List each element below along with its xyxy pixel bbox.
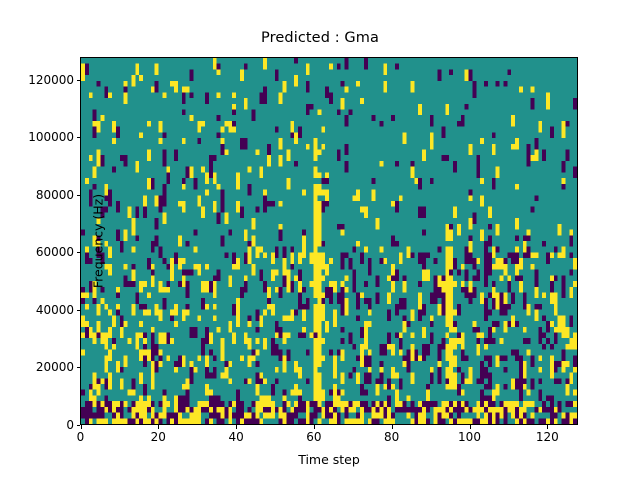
heatmap-image (81, 58, 577, 424)
xtick-mark-120 (547, 425, 548, 429)
ytick-mark-120000 (77, 80, 81, 81)
ytick-label-100000: 100000 (28, 130, 74, 144)
matplotlib-figure: Predicted : Gma 0 20 40 60 80 100 120 0 … (0, 0, 640, 480)
ytick-label-80000: 80000 (36, 188, 74, 202)
ytick-mark-0 (77, 425, 81, 426)
xtick-label-60: 60 (306, 430, 321, 444)
xtick-label-80: 80 (384, 430, 399, 444)
x-axis-label: Time step (80, 452, 578, 467)
xtick-label-0: 0 (77, 430, 85, 444)
xtick-label-120: 120 (536, 430, 559, 444)
xtick-mark-40 (236, 425, 237, 429)
y-axis-label: Frequency (Hz) (91, 57, 106, 425)
xtick-label-40: 40 (228, 430, 243, 444)
ytick-label-0: 0 (66, 418, 74, 432)
xtick-mark-20 (158, 425, 159, 429)
xtick-label-20: 20 (151, 430, 166, 444)
ytick-label-120000: 120000 (28, 73, 74, 87)
ytick-mark-40000 (77, 310, 81, 311)
xtick-mark-100 (470, 425, 471, 429)
ytick-mark-100000 (77, 137, 81, 138)
chart-title: Predicted : Gma (0, 30, 640, 46)
xtick-mark-60 (314, 425, 315, 429)
ytick-label-40000: 40000 (36, 303, 74, 317)
xtick-mark-0 (81, 425, 82, 429)
ytick-mark-60000 (77, 252, 81, 253)
xtick-label-100: 100 (458, 430, 481, 444)
ytick-mark-20000 (77, 367, 81, 368)
ytick-mark-80000 (77, 195, 81, 196)
ytick-label-60000: 60000 (36, 245, 74, 259)
heatmap-axes (80, 57, 578, 425)
xtick-mark-80 (392, 425, 393, 429)
ytick-label-20000: 20000 (36, 360, 74, 374)
